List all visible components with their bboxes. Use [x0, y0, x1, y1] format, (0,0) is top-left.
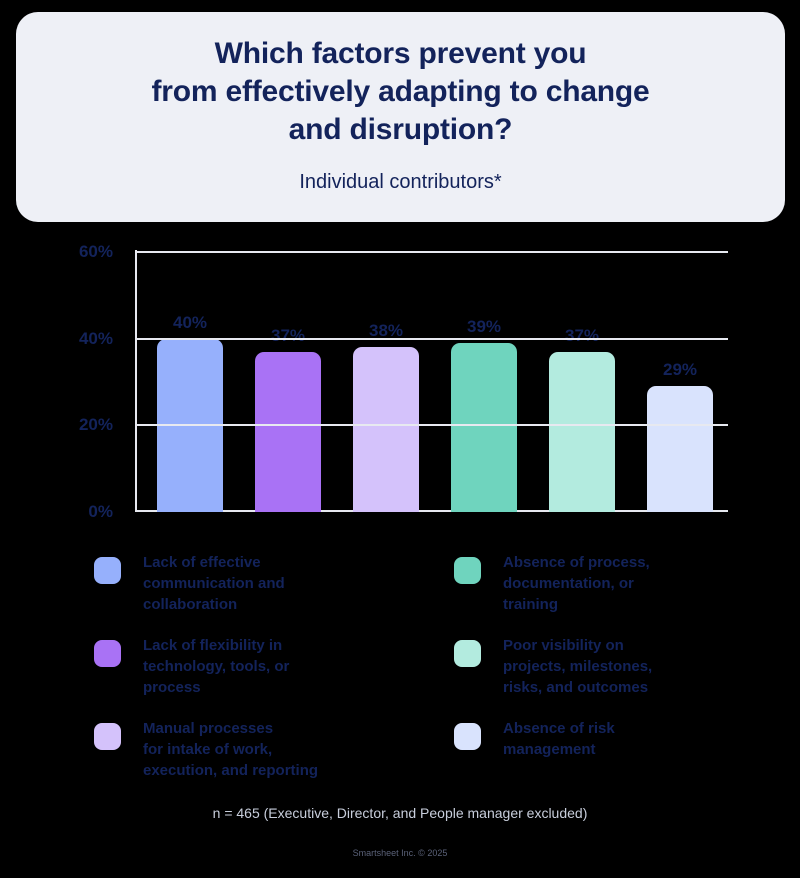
- bar[interactable]: [255, 352, 321, 512]
- y-tick-label: 20%: [40, 415, 113, 435]
- gridline: [135, 338, 728, 340]
- legend-item-label: Poor visibility on projects, milestones,…: [503, 623, 652, 698]
- bar-slot: 29%: [647, 232, 713, 512]
- bar[interactable]: [451, 343, 517, 512]
- chart-legend: Lack of effective communication and coll…: [0, 540, 800, 790]
- bar-value-label: 39%: [439, 317, 529, 337]
- page-title: Which factors prevent you from effective…: [151, 35, 649, 149]
- legend-item[interactable]: Lack of effective communication and coll…: [94, 540, 424, 623]
- bar[interactable]: [549, 352, 615, 512]
- legend-swatch-icon: [94, 640, 121, 667]
- bar-slot: 37%: [255, 232, 321, 512]
- title-card: Which factors prevent you from effective…: [16, 12, 785, 222]
- legend-item-label: Manual processes for intake of work, exe…: [143, 706, 318, 781]
- legend-item[interactable]: Absence of risk management: [454, 706, 784, 789]
- bar[interactable]: [353, 347, 419, 512]
- bar-value-label: 40%: [145, 313, 235, 333]
- y-tick-label: 40%: [40, 329, 113, 349]
- legend-swatch-icon: [454, 640, 481, 667]
- bar-slot: 39%: [451, 232, 517, 512]
- sample-size-note: n = 465 (Executive, Director, and People…: [0, 805, 800, 821]
- bar-value-label: 37%: [243, 326, 333, 346]
- y-tick-label: 0%: [40, 502, 113, 522]
- legend-item[interactable]: Manual processes for intake of work, exe…: [94, 706, 424, 789]
- bar[interactable]: [647, 386, 713, 512]
- page-subtitle: Individual contributors*: [299, 149, 501, 195]
- legend-item[interactable]: Lack of flexibility in technology, tools…: [94, 623, 424, 706]
- plot-area: 40%37%38%39%37%29%: [135, 232, 728, 532]
- legend-swatch-icon: [94, 723, 121, 750]
- legend-item-label: Lack of effective communication and coll…: [143, 540, 285, 615]
- legend-item[interactable]: Absence of process, documentation, or tr…: [454, 540, 784, 623]
- legend-item-label: Lack of flexibility in technology, tools…: [143, 623, 289, 698]
- bar-chart: 0%20%40%60% 40%37%38%39%37%29%: [0, 232, 800, 532]
- bar-slot: 38%: [353, 232, 419, 512]
- legend-column-right: Absence of process, documentation, or tr…: [454, 540, 784, 789]
- bar-slot: 37%: [549, 232, 615, 512]
- bar-slot: 40%: [157, 232, 223, 512]
- legend-swatch-icon: [454, 723, 481, 750]
- legend-item-label: Absence of process, documentation, or tr…: [503, 540, 650, 615]
- legend-column-left: Lack of effective communication and coll…: [94, 540, 424, 789]
- legend-item-label: Absence of risk management: [503, 706, 615, 760]
- gridline: [135, 251, 728, 253]
- y-axis-tick-labels: 0%20%40%60%: [40, 232, 113, 532]
- copyright-note: Smartsheet Inc. © 2025: [0, 848, 800, 858]
- bar-series: 40%37%38%39%37%29%: [135, 232, 728, 512]
- gridline: [135, 424, 728, 426]
- legend-swatch-icon: [454, 557, 481, 584]
- bar-value-label: 29%: [635, 360, 725, 380]
- legend-swatch-icon: [94, 557, 121, 584]
- bar-value-label: 37%: [537, 326, 627, 346]
- y-tick-label: 60%: [40, 242, 113, 262]
- legend-item[interactable]: Poor visibility on projects, milestones,…: [454, 623, 784, 706]
